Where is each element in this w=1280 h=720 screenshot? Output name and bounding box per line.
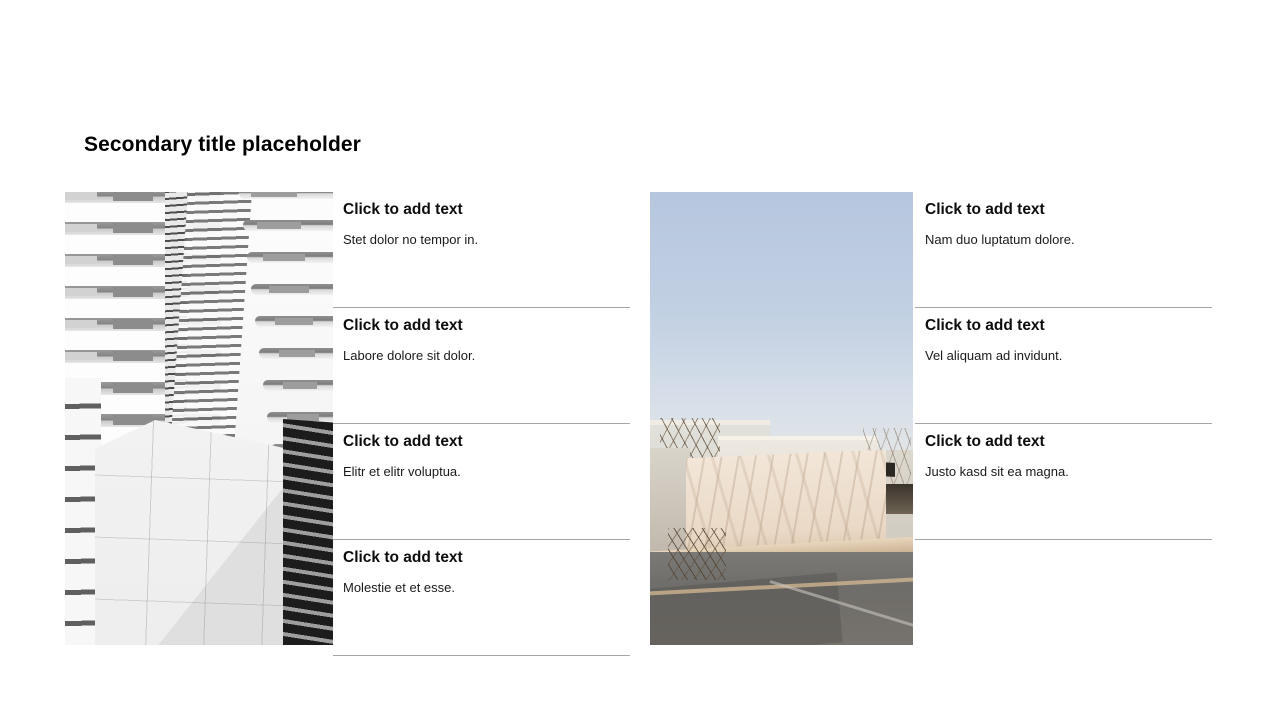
text-block-body[interactable]: Molestie et et esse.	[343, 580, 455, 595]
photo-left-dark-slab	[283, 419, 333, 645]
text-block[interactable]: Click to add text Nam duo luptatum dolor…	[915, 192, 1212, 308]
text-block-heading[interactable]: Click to add text	[925, 433, 1045, 451]
photo-left-wedge-tile-grid	[95, 420, 310, 645]
slide-canvas: Secondary title placeholder	[0, 0, 1280, 720]
page-title[interactable]: Secondary title placeholder	[84, 133, 361, 157]
text-block[interactable]: Click to add text Labore dolore sit dolo…	[333, 308, 630, 424]
text-block[interactable]: Click to add text Vel aliquam ad invidun…	[915, 308, 1212, 424]
text-block-heading[interactable]: Click to add text	[343, 201, 463, 219]
text-block-body[interactable]: Nam duo luptatum dolore.	[925, 232, 1075, 247]
photo-right-doorway	[886, 484, 913, 514]
left-text-column: Click to add text Stet dolor no tempor i…	[333, 192, 630, 656]
image-right[interactable]	[650, 192, 913, 645]
text-block-heading[interactable]: Click to add text	[343, 433, 463, 451]
text-block-heading[interactable]: Click to add text	[925, 201, 1045, 219]
text-block-body[interactable]: Justo kasd sit ea magna.	[925, 464, 1069, 479]
image-left[interactable]	[65, 192, 333, 645]
photo-right-tree-lower	[668, 528, 726, 580]
right-text-column: Click to add text Nam duo luptatum dolor…	[915, 192, 1212, 540]
text-block[interactable]: Click to add text Elitr et elitr voluptu…	[333, 424, 630, 540]
text-block-heading[interactable]: Click to add text	[343, 549, 463, 567]
text-block[interactable]: Click to add text Justo kasd sit ea magn…	[915, 424, 1212, 540]
text-block-body[interactable]: Stet dolor no tempor in.	[343, 232, 478, 247]
text-block-body[interactable]: Vel aliquam ad invidunt.	[925, 348, 1062, 363]
text-block-heading[interactable]: Click to add text	[925, 317, 1045, 335]
text-block[interactable]: Click to add text Stet dolor no tempor i…	[333, 192, 630, 308]
text-block-heading[interactable]: Click to add text	[343, 317, 463, 335]
text-block[interactable]: Click to add text Molestie et et esse.	[333, 540, 630, 656]
text-block-body[interactable]: Elitr et elitr voluptua.	[343, 464, 461, 479]
text-block-body[interactable]: Labore dolore sit dolor.	[343, 348, 475, 363]
